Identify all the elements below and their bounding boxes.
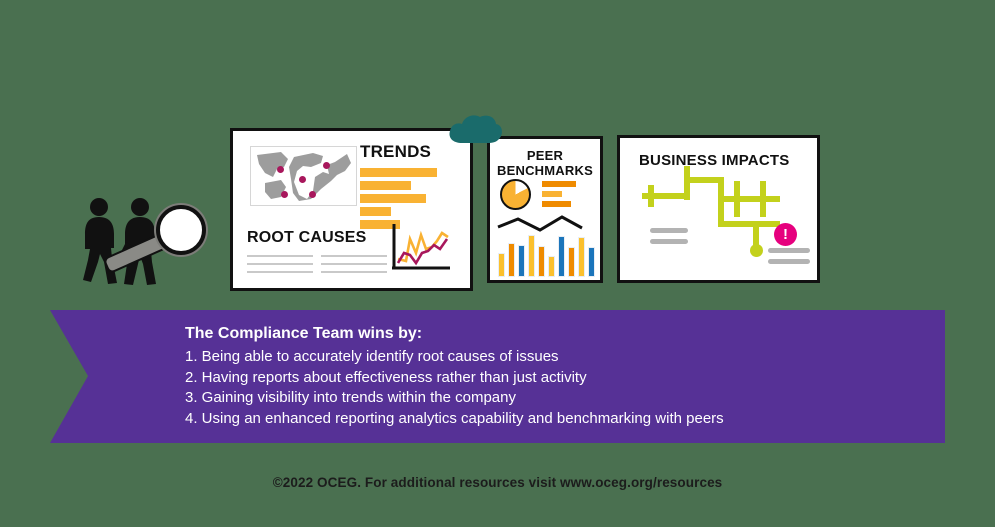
trend-bar bbox=[360, 194, 426, 203]
peer-bar bbox=[542, 201, 571, 207]
trend-line-chart bbox=[390, 223, 452, 275]
column-bar bbox=[518, 245, 525, 277]
people-illustration bbox=[78, 196, 208, 301]
peer-bar bbox=[542, 181, 576, 187]
tree-branch bbox=[718, 221, 780, 227]
placeholder-line bbox=[650, 228, 688, 233]
peer-trend-line bbox=[496, 211, 600, 233]
placeholder-line bbox=[321, 255, 387, 257]
column-bar bbox=[578, 237, 585, 277]
summary-banner: The Compliance Team wins by: 1. Being ab… bbox=[50, 310, 945, 443]
placeholder-line bbox=[321, 271, 387, 273]
placeholder-line bbox=[247, 255, 313, 257]
column-bar bbox=[548, 256, 555, 277]
map-dot bbox=[299, 176, 306, 183]
trend-bar bbox=[360, 181, 411, 190]
tree-branch bbox=[684, 166, 690, 200]
peer-title-line1: PEER bbox=[490, 148, 600, 163]
cloud-icon bbox=[446, 113, 504, 145]
banner-item: 4. Using an enhanced reporting analytics… bbox=[185, 409, 724, 430]
placeholder-line bbox=[768, 248, 810, 253]
map-dot bbox=[277, 166, 284, 173]
footer-credit: ©2022 OCEG. For additional resources vis… bbox=[0, 475, 995, 490]
panel-business-impacts: BUSINESS IMPACTS ! bbox=[617, 135, 820, 283]
panel-peer-benchmarks: PEER BENCHMARKS bbox=[487, 136, 603, 283]
placeholder-line bbox=[650, 239, 688, 244]
tree-node bbox=[750, 244, 763, 257]
map-dot bbox=[323, 162, 330, 169]
trends-title: TRENDS bbox=[360, 142, 431, 162]
tree-branch bbox=[718, 196, 780, 202]
tree-branch bbox=[734, 181, 740, 217]
root-causes-title: ROOT CAUSES bbox=[247, 229, 367, 247]
peer-benchmarks-title: PEER BENCHMARKS bbox=[490, 148, 600, 178]
banner-item: 1. Being able to accurately identify roo… bbox=[185, 347, 724, 368]
map-dot bbox=[309, 191, 316, 198]
banner-item: 3. Gaining visibility into trends within… bbox=[185, 388, 724, 409]
trend-bar bbox=[360, 207, 391, 216]
peer-bar bbox=[542, 191, 562, 197]
trend-bar bbox=[360, 168, 437, 177]
column-bar bbox=[508, 243, 515, 277]
column-bar bbox=[568, 247, 575, 277]
peer-column-chart bbox=[498, 231, 598, 277]
column-bar bbox=[498, 253, 505, 277]
peer-title-line2: BENCHMARKS bbox=[490, 163, 600, 178]
column-bar bbox=[538, 246, 545, 277]
pie-chart bbox=[500, 179, 531, 210]
tree-branch bbox=[642, 193, 690, 199]
placeholder-line bbox=[247, 271, 313, 273]
banner-content: The Compliance Team wins by: 1. Being ab… bbox=[185, 325, 724, 429]
infographic-canvas: TRENDS ROOT CAUSES PEER BENCHMARKS bbox=[0, 0, 995, 527]
column-bar bbox=[528, 235, 535, 277]
column-bar bbox=[588, 247, 595, 277]
placeholder-line bbox=[247, 263, 313, 265]
panel-root-causes: TRENDS ROOT CAUSES bbox=[230, 128, 473, 291]
alert-badge: ! bbox=[774, 223, 797, 246]
banner-heading: The Compliance Team wins by: bbox=[185, 325, 724, 343]
tree-branch bbox=[760, 181, 766, 217]
placeholder-line bbox=[321, 263, 387, 265]
world-map bbox=[250, 146, 357, 206]
magnifier-lens-icon bbox=[156, 205, 206, 255]
business-impacts-title: BUSINESS IMPACTS bbox=[639, 152, 789, 169]
column-bar bbox=[558, 236, 565, 277]
banner-item: 2. Having reports about effectiveness ra… bbox=[185, 368, 724, 389]
map-dot bbox=[281, 191, 288, 198]
placeholder-line bbox=[768, 259, 810, 264]
